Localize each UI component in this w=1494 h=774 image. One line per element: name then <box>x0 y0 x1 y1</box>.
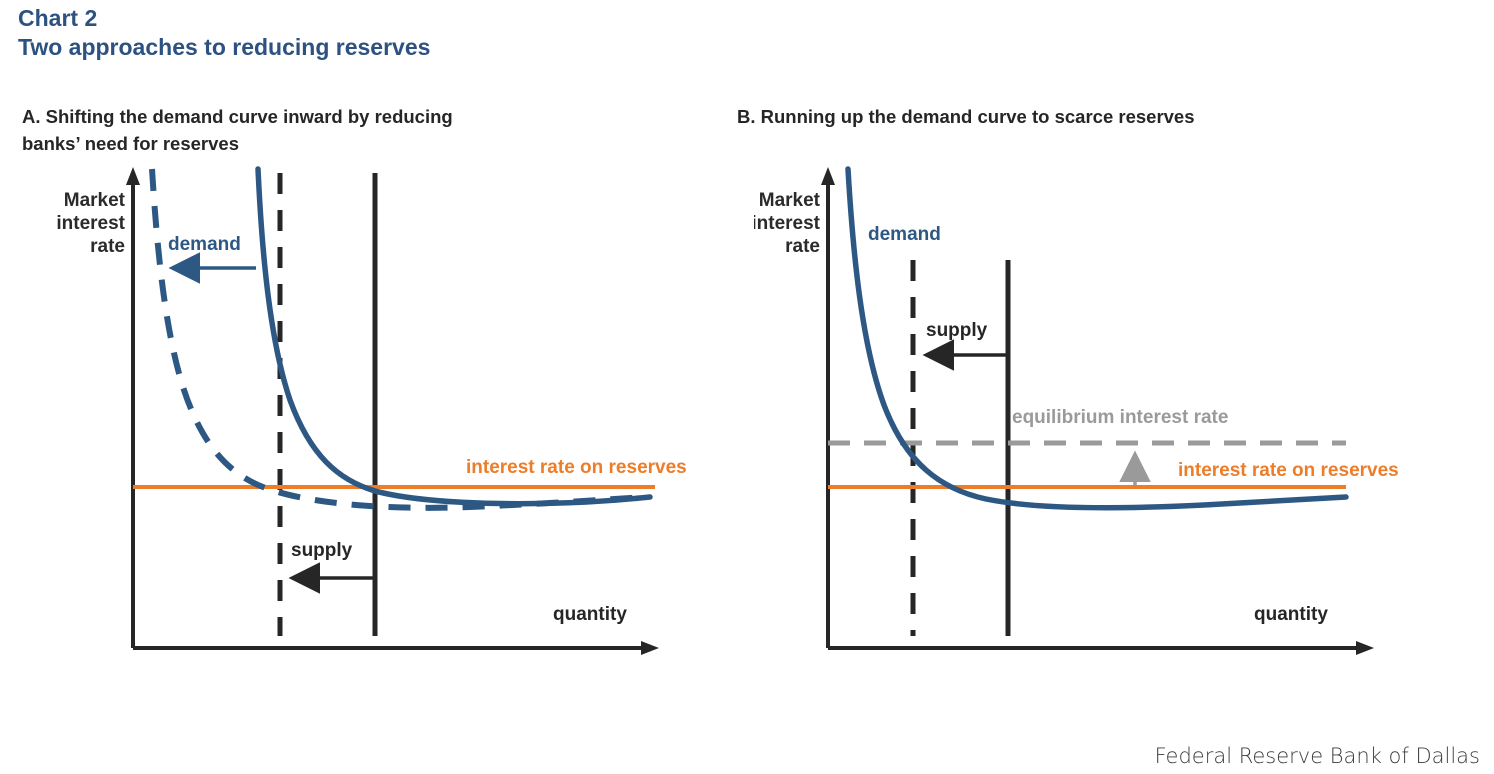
panel-a-y-axis-label: Market interest rate <box>56 190 125 257</box>
panel-b-title: B. Running up the demand curve to scarce… <box>737 103 1195 130</box>
panel-b-demand-curve <box>848 169 1346 508</box>
panel-b-x-axis-label: quantity <box>1254 604 1328 625</box>
panel-b-plot: demand supply equilibrium interest rate … <box>754 155 1494 675</box>
svg-text:rate: rate <box>90 236 125 257</box>
x-axis-arrow-icon <box>641 641 659 655</box>
panel-a-supply-label: supply <box>291 540 353 561</box>
source-credit: Federal Reserve Bank of Dallas <box>1155 744 1480 768</box>
svg-text:interest: interest <box>56 213 125 234</box>
chart-number: Chart 2 <box>18 4 430 32</box>
svg-text:Market: Market <box>759 190 821 211</box>
x-axis-arrow-icon <box>1356 641 1374 655</box>
y-axis-arrow-icon <box>126 167 140 185</box>
chart-figure: Chart 2 Two approaches to reducing reser… <box>0 0 1494 774</box>
panel-b-demand-label: demand <box>868 224 941 245</box>
svg-text:rate: rate <box>785 236 820 257</box>
panel-b-y-axis-label: Market interest rate <box>754 190 821 257</box>
page-title: Two approaches to reducing reserves <box>18 32 430 62</box>
panel-a-ior-label: interest rate on reserves <box>466 457 687 478</box>
panel-a-demand-curve <box>258 169 650 504</box>
y-axis-arrow-icon <box>821 167 835 185</box>
panel-b-ior-label: interest rate on reserves <box>1178 460 1399 481</box>
panel-b-equilibrium-label: equilibrium interest rate <box>1012 407 1228 428</box>
header-block: Chart 2 Two approaches to reducing reser… <box>18 4 430 62</box>
panel-a-title: A. Shifting the demand curve inward by r… <box>22 103 453 157</box>
svg-text:interest: interest <box>754 213 821 234</box>
panel-a-x-axis-label: quantity <box>553 604 627 625</box>
panel-b-supply-label: supply <box>926 320 988 341</box>
svg-text:Market: Market <box>64 190 126 211</box>
panel-a-plot: demand supply interest rate on reserves … <box>0 155 740 675</box>
panel-a-demand-label: demand <box>168 234 241 255</box>
